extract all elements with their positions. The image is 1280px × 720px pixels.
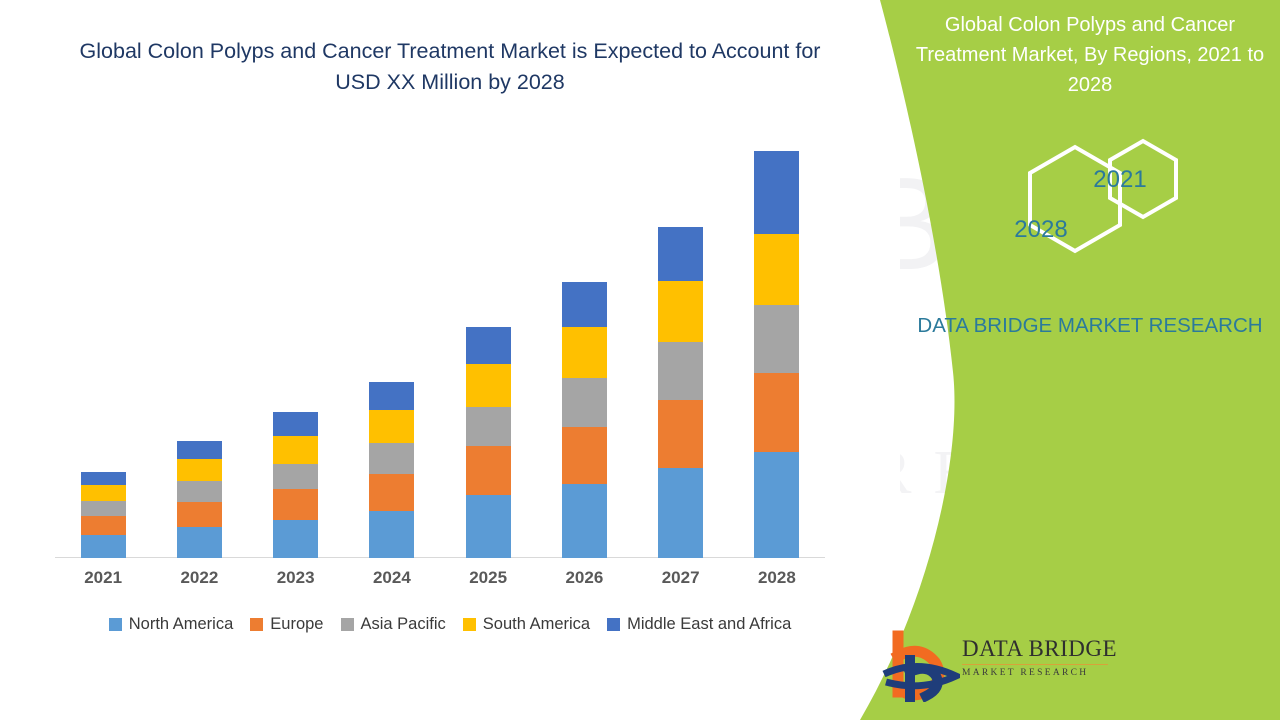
stacked-bar[interactable] [81, 472, 126, 559]
bar-segment [177, 441, 222, 460]
bar-segment [562, 427, 607, 484]
panel-title: Global Colon Polyps and Cancer Treatment… [910, 10, 1270, 100]
bar-segment [754, 151, 799, 234]
x-axis-label: 2027 [633, 568, 729, 588]
legend-swatch-icon [463, 618, 476, 631]
stacked-bar[interactable] [369, 382, 414, 558]
legend-swatch-icon [341, 618, 354, 631]
bar-segment [81, 485, 126, 501]
bar-segment [754, 373, 799, 452]
x-axis-label: 2024 [344, 568, 440, 588]
hexagon-label-2028: 2028 [996, 216, 1086, 244]
bar-segment [81, 472, 126, 485]
bar-segment [658, 281, 703, 342]
stacked-bar[interactable] [177, 441, 222, 558]
legend-item[interactable]: Asia Pacific [341, 615, 446, 634]
stacked-bar[interactable] [754, 151, 799, 558]
infographic-page: DATA BRIDGE MARKET RESEARCH Global Colon… [0, 0, 1280, 720]
bar-segment [466, 446, 511, 494]
legend-item[interactable]: South America [463, 615, 590, 634]
hexagon-outlines-icon [970, 138, 1200, 288]
bar-segment [81, 535, 126, 558]
legend-swatch-icon [250, 618, 263, 631]
hexagon-group: 2021 2028 [970, 138, 1200, 288]
legend-label: Middle East and Africa [627, 615, 791, 634]
legend-label: South America [483, 615, 590, 634]
brand-name-text: DATA BRIDGE MARKET RESEARCH [910, 310, 1270, 341]
bar-segment [562, 282, 607, 327]
bar-segment [273, 436, 318, 463]
bar-segment [562, 484, 607, 558]
bar-segment [177, 481, 222, 502]
data-bridge-logo: DATA BRIDGE MARKET RESEARCH [880, 628, 1110, 706]
stacked-bar[interactable] [273, 412, 318, 558]
bar-segment [658, 468, 703, 558]
legend-swatch-icon [109, 618, 122, 631]
hexagon-label-2021: 2021 [1080, 166, 1160, 194]
legend-label: North America [129, 615, 234, 634]
x-axis-label: 2028 [729, 568, 825, 588]
bar-segment [177, 527, 222, 558]
chart-plot-area [55, 120, 825, 558]
bar-segment [658, 227, 703, 281]
bar-segment [273, 412, 318, 436]
x-axis-label: 2021 [55, 568, 151, 588]
bar-segment [273, 489, 318, 520]
bar-segment [369, 410, 414, 443]
bar-segment [177, 502, 222, 527]
green-panel-content: Global Colon Polyps and Cancer Treatment… [900, 0, 1280, 720]
bar-segment [81, 501, 126, 516]
stacked-bar[interactable] [466, 327, 511, 558]
data-bridge-logo-mark-icon [880, 630, 960, 702]
bar-segment [658, 400, 703, 468]
bar-segment [466, 327, 511, 364]
legend-label: Asia Pacific [361, 615, 446, 634]
legend-item[interactable]: North America [109, 615, 234, 634]
x-axis-label: 2022 [151, 568, 247, 588]
bar-segment [81, 516, 126, 535]
stacked-bar[interactable] [562, 282, 607, 558]
logo-subtitle: MARKET RESEARCH [962, 668, 1110, 678]
x-axis-label: 2025 [440, 568, 536, 588]
bar-segment [754, 305, 799, 373]
x-axis-label: 2026 [536, 568, 632, 588]
legend-item[interactable]: Middle East and Africa [607, 615, 791, 634]
legend-item[interactable]: Europe [250, 615, 323, 634]
legend-label: Europe [270, 615, 323, 634]
logo-wordmark: DATA BRIDGE MARKET RESEARCH [962, 636, 1110, 678]
bar-segment [369, 511, 414, 558]
bar-segment [754, 452, 799, 558]
chart-title: Global Colon Polyps and Cancer Treatment… [70, 36, 830, 98]
bar-segment [658, 342, 703, 400]
bar-segment [466, 407, 511, 446]
logo-name: DATA BRIDGE [962, 636, 1110, 662]
chart-legend: North AmericaEuropeAsia PacificSouth Ame… [55, 615, 845, 634]
x-axis-label: 2023 [248, 568, 344, 588]
bar-segment [466, 364, 511, 407]
bar-segment [466, 495, 511, 559]
x-axis-line [55, 557, 825, 558]
bar-segment [562, 327, 607, 378]
bar-segment [369, 474, 414, 511]
logo-divider [962, 664, 1108, 665]
bar-segment [369, 382, 414, 410]
bar-segment [562, 378, 607, 426]
chart-panel: Global Colon Polyps and Cancer Treatment… [0, 0, 900, 720]
bar-segment [273, 464, 318, 489]
stacked-bar[interactable] [658, 227, 703, 558]
bar-segment [177, 459, 222, 481]
legend-swatch-icon [607, 618, 620, 631]
bar-segment [754, 234, 799, 305]
bar-segment [273, 520, 318, 558]
bar-segment [369, 443, 414, 474]
x-axis-labels: 20212022202320242025202620272028 [55, 568, 825, 596]
